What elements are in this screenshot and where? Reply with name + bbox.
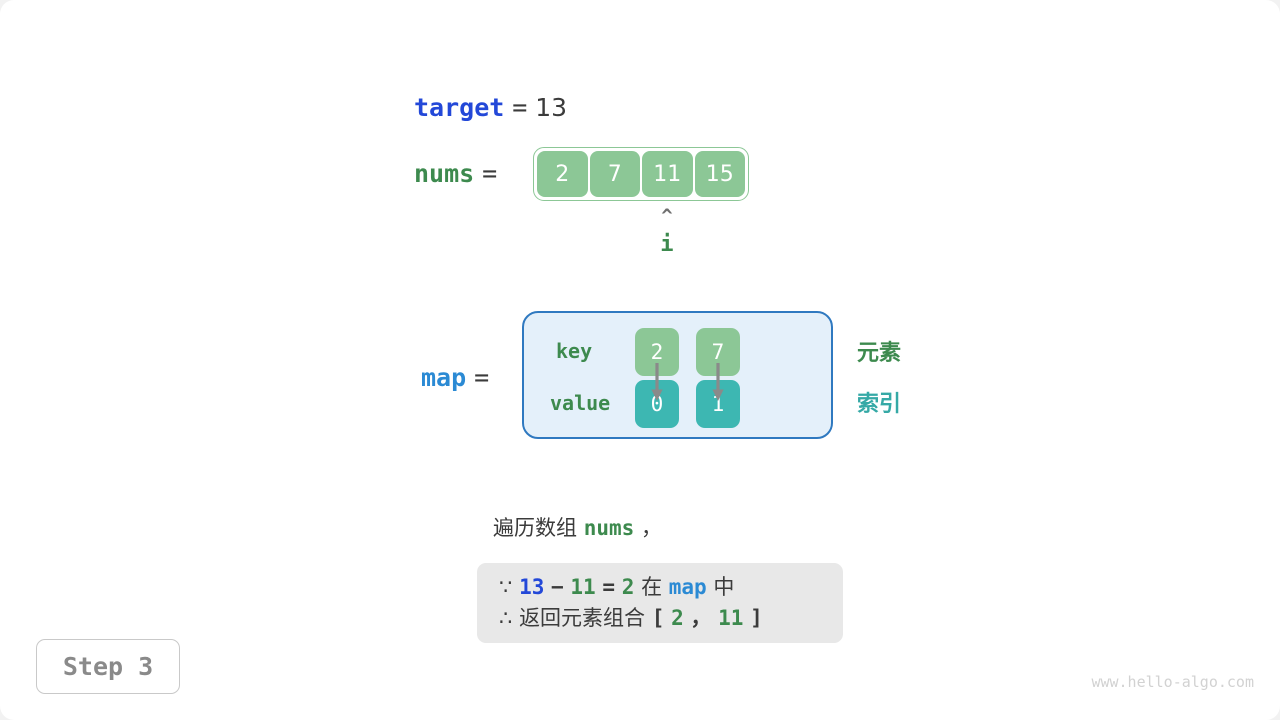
- note-result-first: 2: [671, 606, 684, 630]
- nums-variable-name: nums: [414, 159, 474, 188]
- array-cell: 11: [642, 151, 693, 197]
- array-cell: 2: [537, 151, 588, 197]
- caption-code: nums: [584, 516, 635, 540]
- therefore-symbol-icon: ∴: [499, 606, 512, 630]
- map-label: map =: [421, 362, 489, 394]
- target-value: 13: [535, 93, 567, 122]
- explanation-box: ∵ 13 − 11 = 2 在 map 中 ∴ 返回元素组合 [ 2 ， 11 …: [477, 563, 843, 643]
- map-rows: key value 2 7 0 1: [522, 311, 833, 439]
- note-minus-sign: −: [551, 575, 564, 599]
- key-to-value-arrow-icon: [648, 363, 666, 403]
- note-bracket-close: ]: [750, 606, 763, 630]
- legend-element-label: 元素: [857, 341, 901, 367]
- array-cell: 15: [695, 151, 746, 197]
- map-variable-name: map: [421, 363, 466, 392]
- note-result-text: 返回元素组合: [519, 606, 645, 630]
- note-current-element: 11: [570, 575, 595, 599]
- map-key-row-label: key: [556, 339, 592, 363]
- key-to-value-arrow-icon: [709, 363, 727, 403]
- watermark: www.hello-algo.com: [1091, 673, 1254, 691]
- legend-index-label: 索引: [857, 392, 901, 418]
- caption-prefix: 遍历数组: [493, 516, 577, 540]
- target-row: target = 13: [414, 92, 567, 124]
- explanation-line-1: ∵ 13 − 11 = 2 在 map 中: [499, 572, 821, 603]
- diagram-canvas: target = 13 nums = 2 7 11 15 ^ i map = k…: [0, 0, 1280, 720]
- nums-equals-sign: =: [482, 159, 497, 188]
- explanation-line-2: ∴ 返回元素组合 [ 2 ， 11 ]: [499, 603, 821, 634]
- target-equals-sign: =: [512, 93, 527, 122]
- note-map-name: map: [669, 575, 707, 599]
- index-pointer-label: i: [660, 232, 673, 258]
- caption-line: 遍历数组 nums ，: [493, 514, 662, 542]
- target-variable-name: target: [414, 93, 504, 122]
- step-badge: Step 3: [36, 639, 180, 694]
- note-result-comma: ，: [690, 606, 711, 630]
- note-mid-text: 在: [641, 575, 662, 599]
- nums-label: nums =: [414, 158, 497, 190]
- note-bracket-open: [: [652, 606, 665, 630]
- because-symbol-icon: ∵: [499, 575, 512, 599]
- note-equals-sign: =: [602, 575, 615, 599]
- note-tail-text: 中: [713, 575, 734, 599]
- map-value-row-label: value: [550, 391, 610, 415]
- note-complement-value: 2: [622, 575, 635, 599]
- caption-suffix: ，: [641, 516, 662, 540]
- nums-array: 2 7 11 15: [533, 147, 749, 201]
- index-pointer-caret-icon: ^: [661, 207, 672, 226]
- note-result-second: 11: [718, 606, 743, 630]
- map-equals-sign: =: [474, 363, 489, 392]
- array-cell: 7: [590, 151, 641, 197]
- note-target-value: 13: [519, 575, 544, 599]
